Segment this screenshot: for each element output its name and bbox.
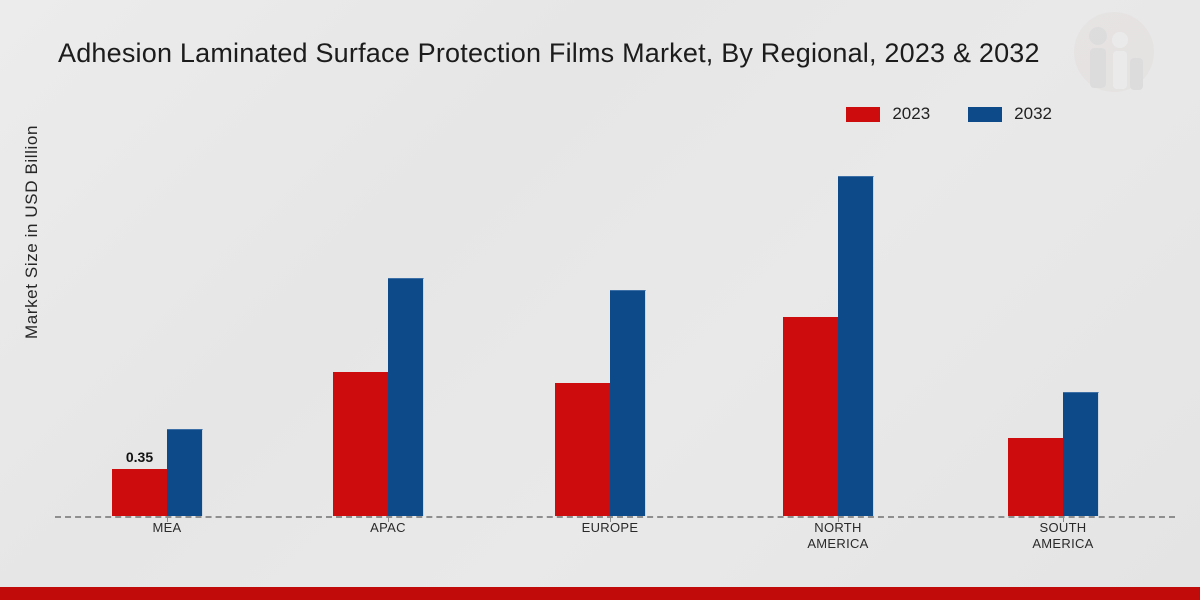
- x-tick-label: SOUTH AMERICA: [983, 520, 1143, 552]
- footer-bar: [0, 587, 1200, 600]
- plot-area: 0.35: [55, 140, 1165, 516]
- x-tick-label: NORTH AMERICA: [758, 520, 918, 552]
- x-tick-mark: [610, 516, 611, 522]
- legend-label-2032: 2032: [1014, 104, 1052, 124]
- x-tick-label: EUROPE: [530, 520, 690, 536]
- x-tick-label: APAC: [308, 520, 468, 536]
- bar-north-america-2032[interactable]: [838, 176, 874, 516]
- chart-title: Adhesion Laminated Surface Protection Fi…: [58, 34, 1163, 72]
- bar-group: [333, 140, 424, 516]
- legend-label-2023: 2023: [892, 104, 930, 124]
- legend-item-2032[interactable]: 2032: [968, 104, 1052, 124]
- legend-swatch-blue: [968, 107, 1002, 122]
- bar-north-america-2023[interactable]: [783, 317, 838, 516]
- x-tick-mark: [838, 516, 839, 522]
- bar-group: [1008, 140, 1099, 516]
- bar-group: [555, 140, 646, 516]
- bar-south-america-2032[interactable]: [1063, 392, 1099, 516]
- bar-south-america-2023[interactable]: [1008, 438, 1063, 516]
- y-axis-title: Market Size in USD Billion: [22, 32, 42, 432]
- x-axis-baseline: [55, 516, 1175, 518]
- bar-mea-2032[interactable]: [167, 429, 203, 516]
- bar-apac-2032[interactable]: [388, 278, 424, 516]
- data-label: 0.35: [108, 449, 171, 465]
- x-tick-mark: [388, 516, 389, 522]
- bar-apac-2023[interactable]: [333, 372, 388, 516]
- chart-legend: 2023 2032: [846, 104, 1052, 124]
- bar-mea-2023[interactable]: [112, 469, 167, 516]
- bar-europe-2032[interactable]: [610, 290, 646, 516]
- x-tick-label: MEA: [87, 520, 247, 536]
- bar-group: [783, 140, 874, 516]
- x-tick-mark: [1063, 516, 1064, 522]
- legend-swatch-red: [846, 107, 880, 122]
- bar-europe-2023[interactable]: [555, 383, 610, 516]
- x-tick-mark: [167, 516, 168, 522]
- legend-item-2023[interactable]: 2023: [846, 104, 930, 124]
